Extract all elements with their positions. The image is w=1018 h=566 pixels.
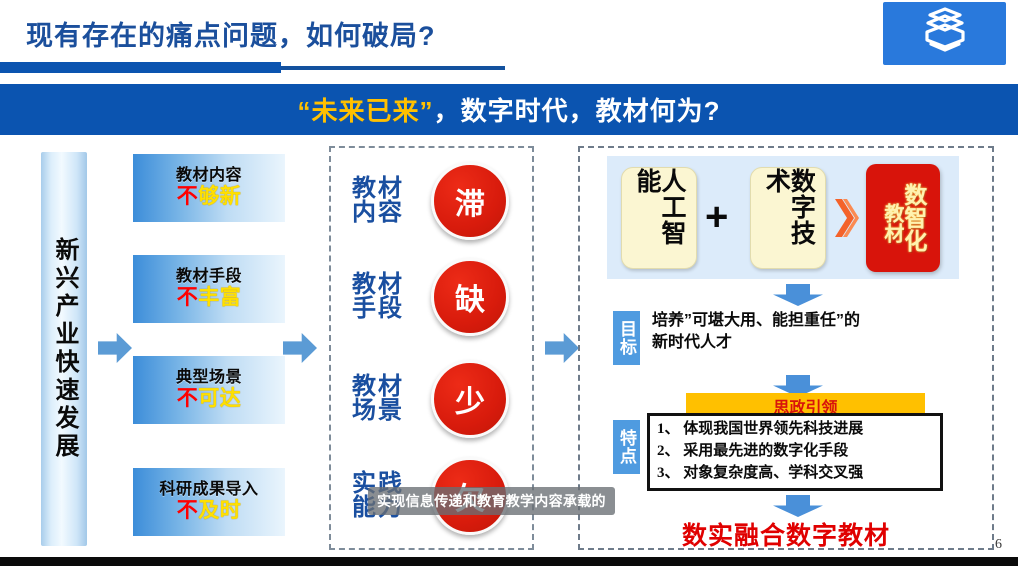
industry-growth-label: 新兴产业快速发展 [52, 237, 76, 461]
issue-label-2-line2: 手段 [331, 297, 425, 321]
industry-growth-bar: 新兴产业快速发展 [41, 152, 87, 546]
goal-text: 培养”可堪大用、能担重任”的 新时代人才 [652, 310, 972, 353]
pain-point-negation-2: 不 [177, 286, 199, 309]
issue-label-1-line1: 教材 [331, 177, 425, 201]
stacked-books-logo-icon [883, 2, 1006, 65]
formula-row: 人工智能 + 数字技术 教材 数智化 [607, 156, 959, 279]
issue-badge-text-2: 缺 [455, 275, 485, 319]
pain-point-value-4: 不及时 [177, 500, 242, 522]
goal-badge: 目标 [613, 311, 640, 365]
double-chevron-right-icon [832, 194, 860, 242]
plus-icon: + [705, 195, 728, 240]
issue-badge-text-3: 少 [455, 377, 485, 421]
features-badge: 特点 [613, 420, 640, 474]
pain-point-box-4: 科研成果导入 不及时 [133, 468, 285, 536]
solution-panel: 人工智能 + 数字技术 教材 数智化 目标 培养”可堪大用、能担重任”的 [578, 146, 994, 550]
pain-point-title-1: 教材内容 [176, 168, 242, 185]
issue-label-1-line2: 内容 [331, 201, 425, 225]
title-underline-thick [0, 62, 281, 73]
title-underline-thin [281, 66, 505, 70]
arrow-down-icon-3 [773, 495, 823, 517]
formula-result-sub: 教材 [882, 203, 902, 243]
issue-label-2-line1: 教材 [331, 273, 425, 297]
pain-point-negation-4: 不 [177, 499, 199, 522]
feature-item-3: 3、 对象复杂度高、学科交叉强 [657, 463, 940, 485]
goal-line-1: 培养”可堪大用、能担重任”的 [652, 310, 972, 332]
pain-point-rest-2: 丰富 [198, 286, 241, 309]
overlay-caption: 实现信息传递和教育教学内容承载的 [368, 487, 615, 515]
formula-term-2-text: 数字技术 [763, 168, 813, 268]
feature-item-2: 2、 采用最先进的数字化手段 [657, 441, 940, 463]
pain-point-rest-1: 够新 [198, 185, 241, 208]
issue-badge-3: 少 [431, 360, 509, 438]
goal-line-2: 新时代人才 [652, 332, 972, 354]
formula-term-1: 人工智能 [621, 167, 697, 269]
formula-result: 教材 数智化 [866, 164, 940, 272]
pain-point-title-4: 科研成果导入 [159, 482, 258, 499]
arrow-right-icon-3 [545, 333, 579, 363]
issue-row-2: 教材 手段 缺 [331, 254, 532, 340]
pain-point-title-2: 教材手段 [176, 269, 242, 286]
page-number: 6 [995, 537, 1002, 553]
pain-point-box-1: 教材内容 不够新 [133, 154, 285, 222]
features-box: 1、 体现我国世界领先科技进展 2、 采用最先进的数字化手段 3、 对象复杂度高… [647, 413, 943, 491]
issue-badge-1: 滞 [431, 162, 509, 240]
pain-point-rest-4: 及时 [198, 499, 241, 522]
banner-text: “未来已来”，数字时代，教材何为? [298, 91, 721, 128]
issue-row-1: 教材 内容 滞 [331, 158, 532, 244]
pain-point-value-1: 不够新 [177, 186, 242, 208]
feature-item-1: 1、 体现我国世界领先科技进展 [657, 419, 940, 441]
issue-label-1: 教材 内容 [331, 177, 425, 226]
bottom-bar [0, 557, 1018, 566]
issue-label-3: 教材 场景 [331, 375, 425, 424]
conclusion-text: 数实融合数字教材 [580, 516, 992, 552]
pain-point-box-2: 教材手段 不丰富 [133, 255, 285, 323]
slide-root: 现有存在的痛点问题，如何破局? “未来已来”，数字时代，教材何为? 新兴产业快速… [0, 0, 1018, 566]
goal-badge-text: 目标 [618, 320, 635, 356]
formula-term-2: 数字技术 [750, 167, 826, 269]
pain-point-value-2: 不丰富 [177, 287, 242, 309]
pain-point-box-3: 典型场景 不可达 [133, 356, 285, 424]
issue-label-2: 教材 手段 [331, 273, 425, 322]
pain-point-value-3: 不可达 [177, 388, 242, 410]
issue-row-3: 教材 场景 少 [331, 356, 532, 442]
issue-badge-2: 缺 [431, 258, 509, 336]
pain-point-title-3: 典型场景 [176, 370, 242, 387]
banner-rest: ，数字时代，教材何为? [434, 96, 721, 126]
issue-badge-text-1: 滞 [455, 179, 485, 223]
formula-result-main: 数智化 [902, 183, 925, 252]
arrow-right-icon-2 [283, 333, 317, 363]
issue-label-3-line2: 场景 [331, 399, 425, 423]
formula-term-1-text: 人工智能 [634, 168, 684, 268]
arrow-down-icon-1 [773, 284, 823, 306]
arrow-right-icon-1 [98, 333, 132, 363]
banner-bar: “未来已来”，数字时代，教材何为? [0, 84, 1018, 135]
issue-label-3-line1: 教材 [331, 375, 425, 399]
pain-point-negation-3: 不 [177, 387, 199, 410]
pain-point-negation-1: 不 [177, 185, 199, 208]
banner-highlight: “未来已来” [298, 96, 434, 126]
features-badge-text: 特点 [618, 429, 635, 465]
page-title: 现有存在的痛点问题，如何破局? [26, 14, 436, 53]
pain-point-rest-3: 可达 [198, 387, 241, 410]
